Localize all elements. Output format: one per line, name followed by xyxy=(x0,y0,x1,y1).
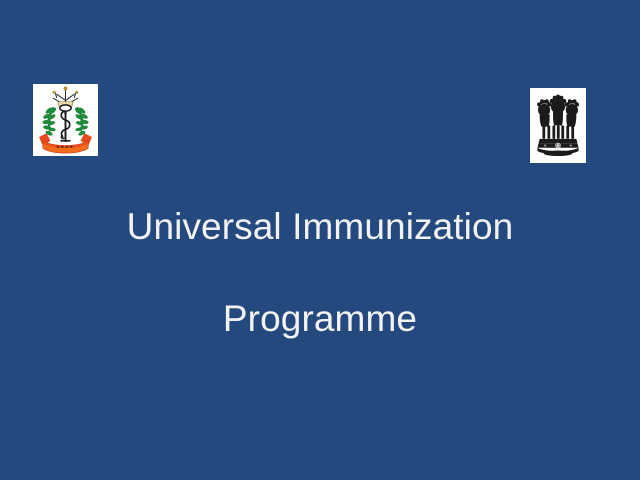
ashoka-chakra xyxy=(556,143,561,148)
armed-forces-medical-services-crest-icon xyxy=(33,84,98,156)
state-emblem-graphic xyxy=(533,90,583,161)
lion-capital xyxy=(537,95,579,148)
ashoka-lion-capital-icon xyxy=(530,88,586,163)
presentation-slide: Universal Immunization Programme xyxy=(0,0,640,480)
slide-title-line-2: Programme xyxy=(0,296,640,342)
crest-graphic xyxy=(34,85,97,155)
slide-title: Universal Immunization Programme xyxy=(0,158,640,388)
slide-title-line-1: Universal Immunization xyxy=(0,204,640,250)
